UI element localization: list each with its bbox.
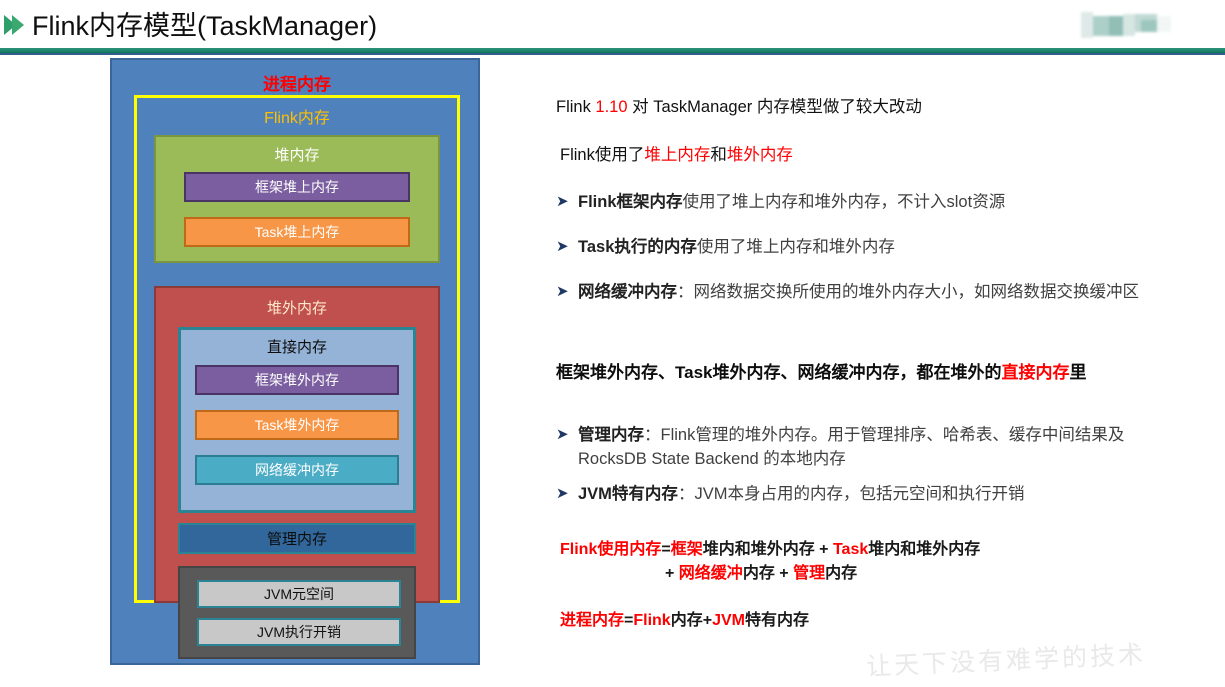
bullet-desc: ：JVM本身占用的内存，包括元空间和执行开销 <box>678 485 1025 503</box>
bullet-term: JVM特有内存 <box>578 485 678 503</box>
formula2-p2b: 特有内存 <box>745 612 809 629</box>
intro-pre: Flink <box>556 98 595 116</box>
arrow-bullet-icon: ➤ <box>556 191 578 213</box>
arrow-bullet-icon: ➤ <box>556 236 578 258</box>
formula2-p1: Flink <box>633 612 670 629</box>
formula1-p2: Task <box>833 541 868 558</box>
formula1-plus2: + <box>775 565 793 582</box>
bullet-term: Task执行的内存 <box>578 238 697 256</box>
box-framework-heap-memory: 框架堆上内存 <box>184 172 410 202</box>
box-offheap-memory: 堆外内存 直接内存 框架堆外内存 Task堆外内存 网络缓冲内存 管理内存 JV… <box>154 286 440 603</box>
box-direct-memory: 直接内存 框架堆外内存 Task堆外内存 网络缓冲内存 <box>178 327 416 513</box>
formula2-plus: + <box>703 612 712 629</box>
bullet-term: Flink框架内存 <box>578 193 683 211</box>
box-jvm-overhead: JVM执行开销 <box>197 618 401 646</box>
bullet-item: ➤ JVM特有内存：JVM本身占用的内存，包括元空间和执行开销 <box>556 483 1171 507</box>
bullet-item: ➤ 网络缓冲内存：网络数据交换所使用的堆外内存大小，如网络数据交换缓冲区 <box>556 281 1171 305</box>
box-managed-memory: 管理内存 <box>178 523 416 554</box>
formula1-p3b: 内存 <box>743 565 775 582</box>
arrow-bullet-icon: ➤ <box>556 281 578 303</box>
label-offheap-memory: 堆外内存 <box>156 297 438 318</box>
intro-line: Flink 1.10 对 TaskManager 内存模型做了较大改动 <box>556 95 922 120</box>
page-title: Flink内存模型(TaskManager) <box>32 4 377 43</box>
bullet-item: ➤ Task执行的内存使用了堆上内存和堆外内存 <box>556 236 1171 260</box>
box-framework-offheap-memory: 框架堆外内存 <box>195 365 399 395</box>
bullet-term: 网络缓冲内存 <box>578 283 677 301</box>
green-chevron-icon <box>2 12 28 38</box>
arrow-bullet-icon: ➤ <box>556 483 578 505</box>
formula1-eq: = <box>661 541 670 558</box>
formula1-p1: 框架 <box>671 541 703 558</box>
box-jvm-specific-memory: JVM元空间 JVM执行开销 <box>178 566 416 659</box>
usage-line: Flink使用了堆上内存和堆外内存 <box>560 143 793 168</box>
memory-model-diagram: 进程内存 Flink内存 堆内存 框架堆上内存 Task堆上内存 堆外内存 直接… <box>110 58 480 665</box>
bullet-item: ➤ Flink框架内存使用了堆上内存和堆外内存，不计入slot资源 <box>556 191 1171 215</box>
summary-highlight: 直接内存 <box>1002 363 1070 382</box>
formula1-line2-plus: + <box>665 565 679 582</box>
bullet-desc: 使用了堆上内存和堆外内存，不计入slot资源 <box>683 193 1006 211</box>
arrow-bullet-icon: ➤ <box>556 424 578 446</box>
intro-post: 对 TaskManager 内存模型做了较大改动 <box>628 98 922 116</box>
formula2-p1b: 内存 <box>671 612 703 629</box>
usage-on-heap: 堆上内存 <box>644 146 710 164</box>
brand-logo <box>1079 10 1175 40</box>
bullet-item: ➤ 管理内存：Flink管理的堆外内存。用于管理排序、哈希表、缓存中间结果及 R… <box>556 424 1171 472</box>
formula1-plus1: + <box>815 541 833 558</box>
bullet-desc: ：网络数据交换所使用的堆外内存大小，如网络数据交换缓冲区 <box>677 283 1139 301</box>
formula1-p4: 管理 <box>793 565 825 582</box>
usage-off-heap: 堆外内存 <box>727 146 793 164</box>
bullet-desc: 使用了堆上内存和堆外内存 <box>697 238 895 256</box>
formula1-p4b: 内存 <box>825 565 857 582</box>
page-header: Flink内存模型(TaskManager) <box>0 0 1225 52</box>
usage-mid: 和 <box>710 146 727 164</box>
summary-line: 框架堆外内存、Task堆外内存、网络缓冲内存，都在堆外的直接内存里 <box>556 358 1176 383</box>
header-rule-navy <box>0 53 1225 55</box>
formula1-p1b: 堆内和堆外内存 <box>703 541 815 558</box>
box-heap-memory: 堆内存 框架堆上内存 Task堆上内存 <box>154 135 440 263</box>
formula-flink-memory: Flink使用内存=框架堆内和堆外内存 + Task堆内和堆外内存 + 网络缓冲… <box>560 538 1120 586</box>
label-heap-memory: 堆内存 <box>156 144 438 165</box>
formula2-p2: JVM <box>712 612 745 629</box>
formula1-lhs: Flink使用内存 <box>560 541 661 558</box>
formula2-eq: = <box>624 612 633 629</box>
box-task-offheap-memory: Task堆外内存 <box>195 410 399 440</box>
summary-post: 里 <box>1070 363 1087 382</box>
intro-version: 1.10 <box>595 98 627 116</box>
watermark: 让天下没有难学的技术 <box>865 635 1146 683</box>
bullet-term: 管理内存 <box>578 426 644 444</box>
formula1-p3: 网络缓冲 <box>679 565 743 582</box>
formula1-p2b: 堆内和堆外内存 <box>868 541 980 558</box>
formula2-lhs: 进程内存 <box>560 612 624 629</box>
bullet-desc: ：Flink管理的堆外内存。用于管理排序、哈希表、缓存中间结果及 RocksDB… <box>578 426 1124 468</box>
formula-process-memory: 进程内存=Flink内存+JVM特有内存 <box>560 606 1120 630</box>
box-network-buffer-memory: 网络缓冲内存 <box>195 455 399 485</box>
label-flink-memory: Flink内存 <box>134 104 460 128</box>
summary-pre: 框架堆外内存、Task堆外内存、网络缓冲内存，都在堆外的 <box>556 363 1002 382</box>
box-task-heap-memory: Task堆上内存 <box>184 217 410 247</box>
usage-pre: Flink使用了 <box>560 146 644 164</box>
label-direct-memory: 直接内存 <box>181 336 413 357</box>
box-jvm-metaspace: JVM元空间 <box>197 580 401 608</box>
label-process-memory: 进程内存 <box>112 70 482 95</box>
